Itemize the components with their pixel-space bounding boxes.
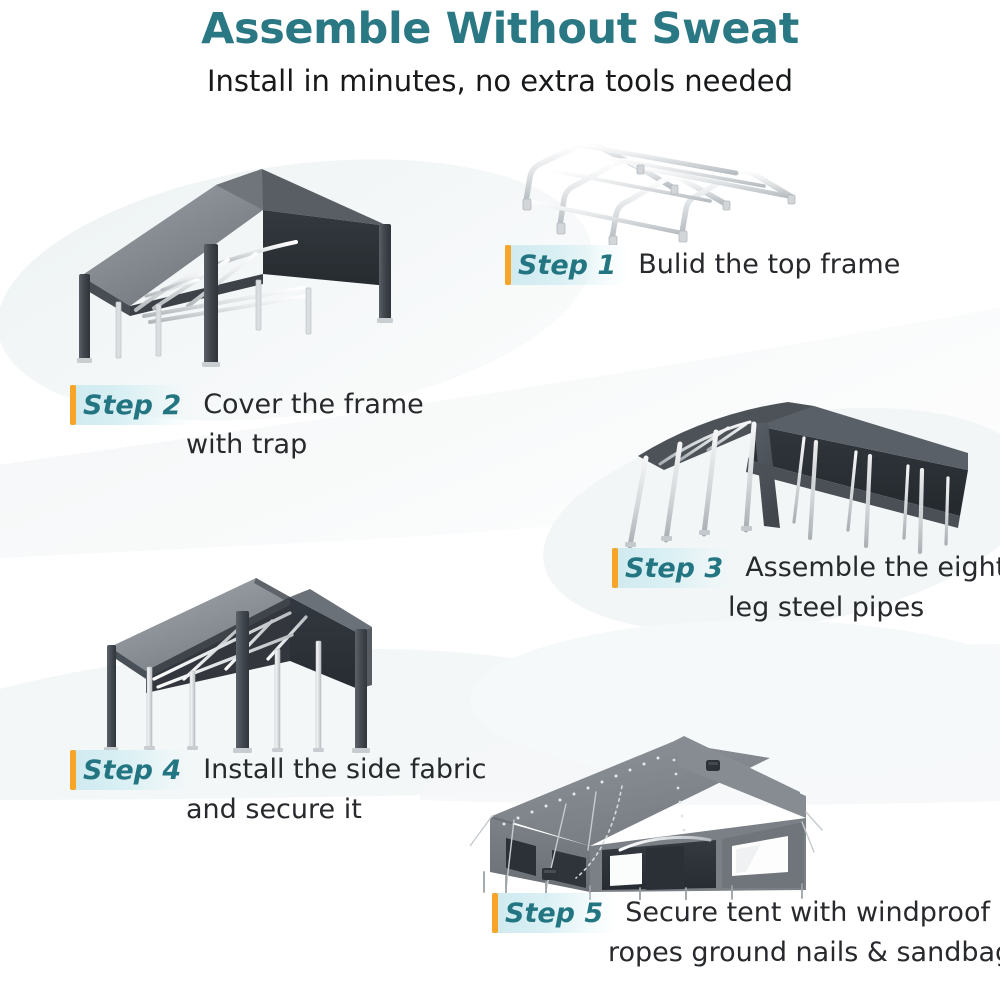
step-2-caption: Step 2 Cover the frame with trap [70, 385, 424, 465]
step-4-text: Install the side fabric [195, 750, 486, 790]
step-1-text: Bulid the top frame [630, 245, 900, 285]
step-4-badge-label: Step 4 [83, 757, 181, 784]
step-1-line-1: Step 1 Bulid the top frame [505, 245, 900, 285]
step-4-caption: Step 4 Install the side fabric and secur… [70, 750, 486, 830]
step-2-line-1: Step 2 Cover the frame [70, 385, 424, 425]
step-5-text-2: ropes ground nails & sandbags [608, 937, 1000, 968]
page-subtitle: Install in minutes, no extra tools neede… [0, 67, 1000, 96]
step-4-line-2-wrap: and secure it [70, 790, 486, 830]
step-1-badge-label: Step 1 [518, 252, 616, 279]
step-3-text-2: leg steel pipes [728, 592, 924, 623]
step-2-text: Cover the frame [195, 385, 424, 425]
step-2-text-2: with trap [186, 429, 307, 460]
step-2-badge-label: Step 2 [83, 392, 181, 419]
illustration-step-4 [58, 575, 408, 755]
step-5-badge: Step 5 [492, 893, 617, 933]
step-5-caption: Step 5 Secure tent with windproof ropes … [492, 893, 1000, 973]
step-1-caption: Step 1 Bulid the top frame [505, 245, 900, 285]
step-2-badge: Step 2 [70, 385, 195, 425]
page-title: Assemble Without Sweat [0, 8, 1000, 51]
step-5-text: Secure tent with windproof [617, 893, 990, 933]
step-1-badge: Step 1 [505, 245, 630, 285]
step-2-line-2-wrap: with trap [70, 425, 424, 465]
illustration-step-3 [608, 398, 968, 558]
step-3-text: Assemble the eight [737, 548, 1000, 588]
infographic-page: Assemble Without Sweat Install in minute… [0, 0, 1000, 1000]
step-3-line-2-wrap: leg steel pipes [612, 588, 1000, 628]
illustration-step-5 [470, 700, 890, 900]
illustration-step-2 [58, 168, 403, 383]
step-3-badge-label: Step 3 [625, 555, 723, 582]
step-4-badge: Step 4 [70, 750, 195, 790]
step-5-badge-label: Step 5 [505, 900, 603, 927]
step-3-badge: Step 3 [612, 548, 737, 588]
step-3-line-1: Step 3 Assemble the eight [612, 548, 1000, 588]
header: Assemble Without Sweat Install in minute… [0, 0, 1000, 96]
step-3-caption: Step 3 Assemble the eight leg steel pipe… [612, 548, 1000, 628]
step-5-line-1: Step 5 Secure tent with windproof [492, 893, 1000, 933]
step-5-line-2-wrap: ropes ground nails & sandbags [492, 933, 1000, 973]
illustration-step-1 [520, 105, 850, 245]
step-4-text-2: and secure it [186, 794, 362, 825]
step-4-line-1: Step 4 Install the side fabric [70, 750, 486, 790]
